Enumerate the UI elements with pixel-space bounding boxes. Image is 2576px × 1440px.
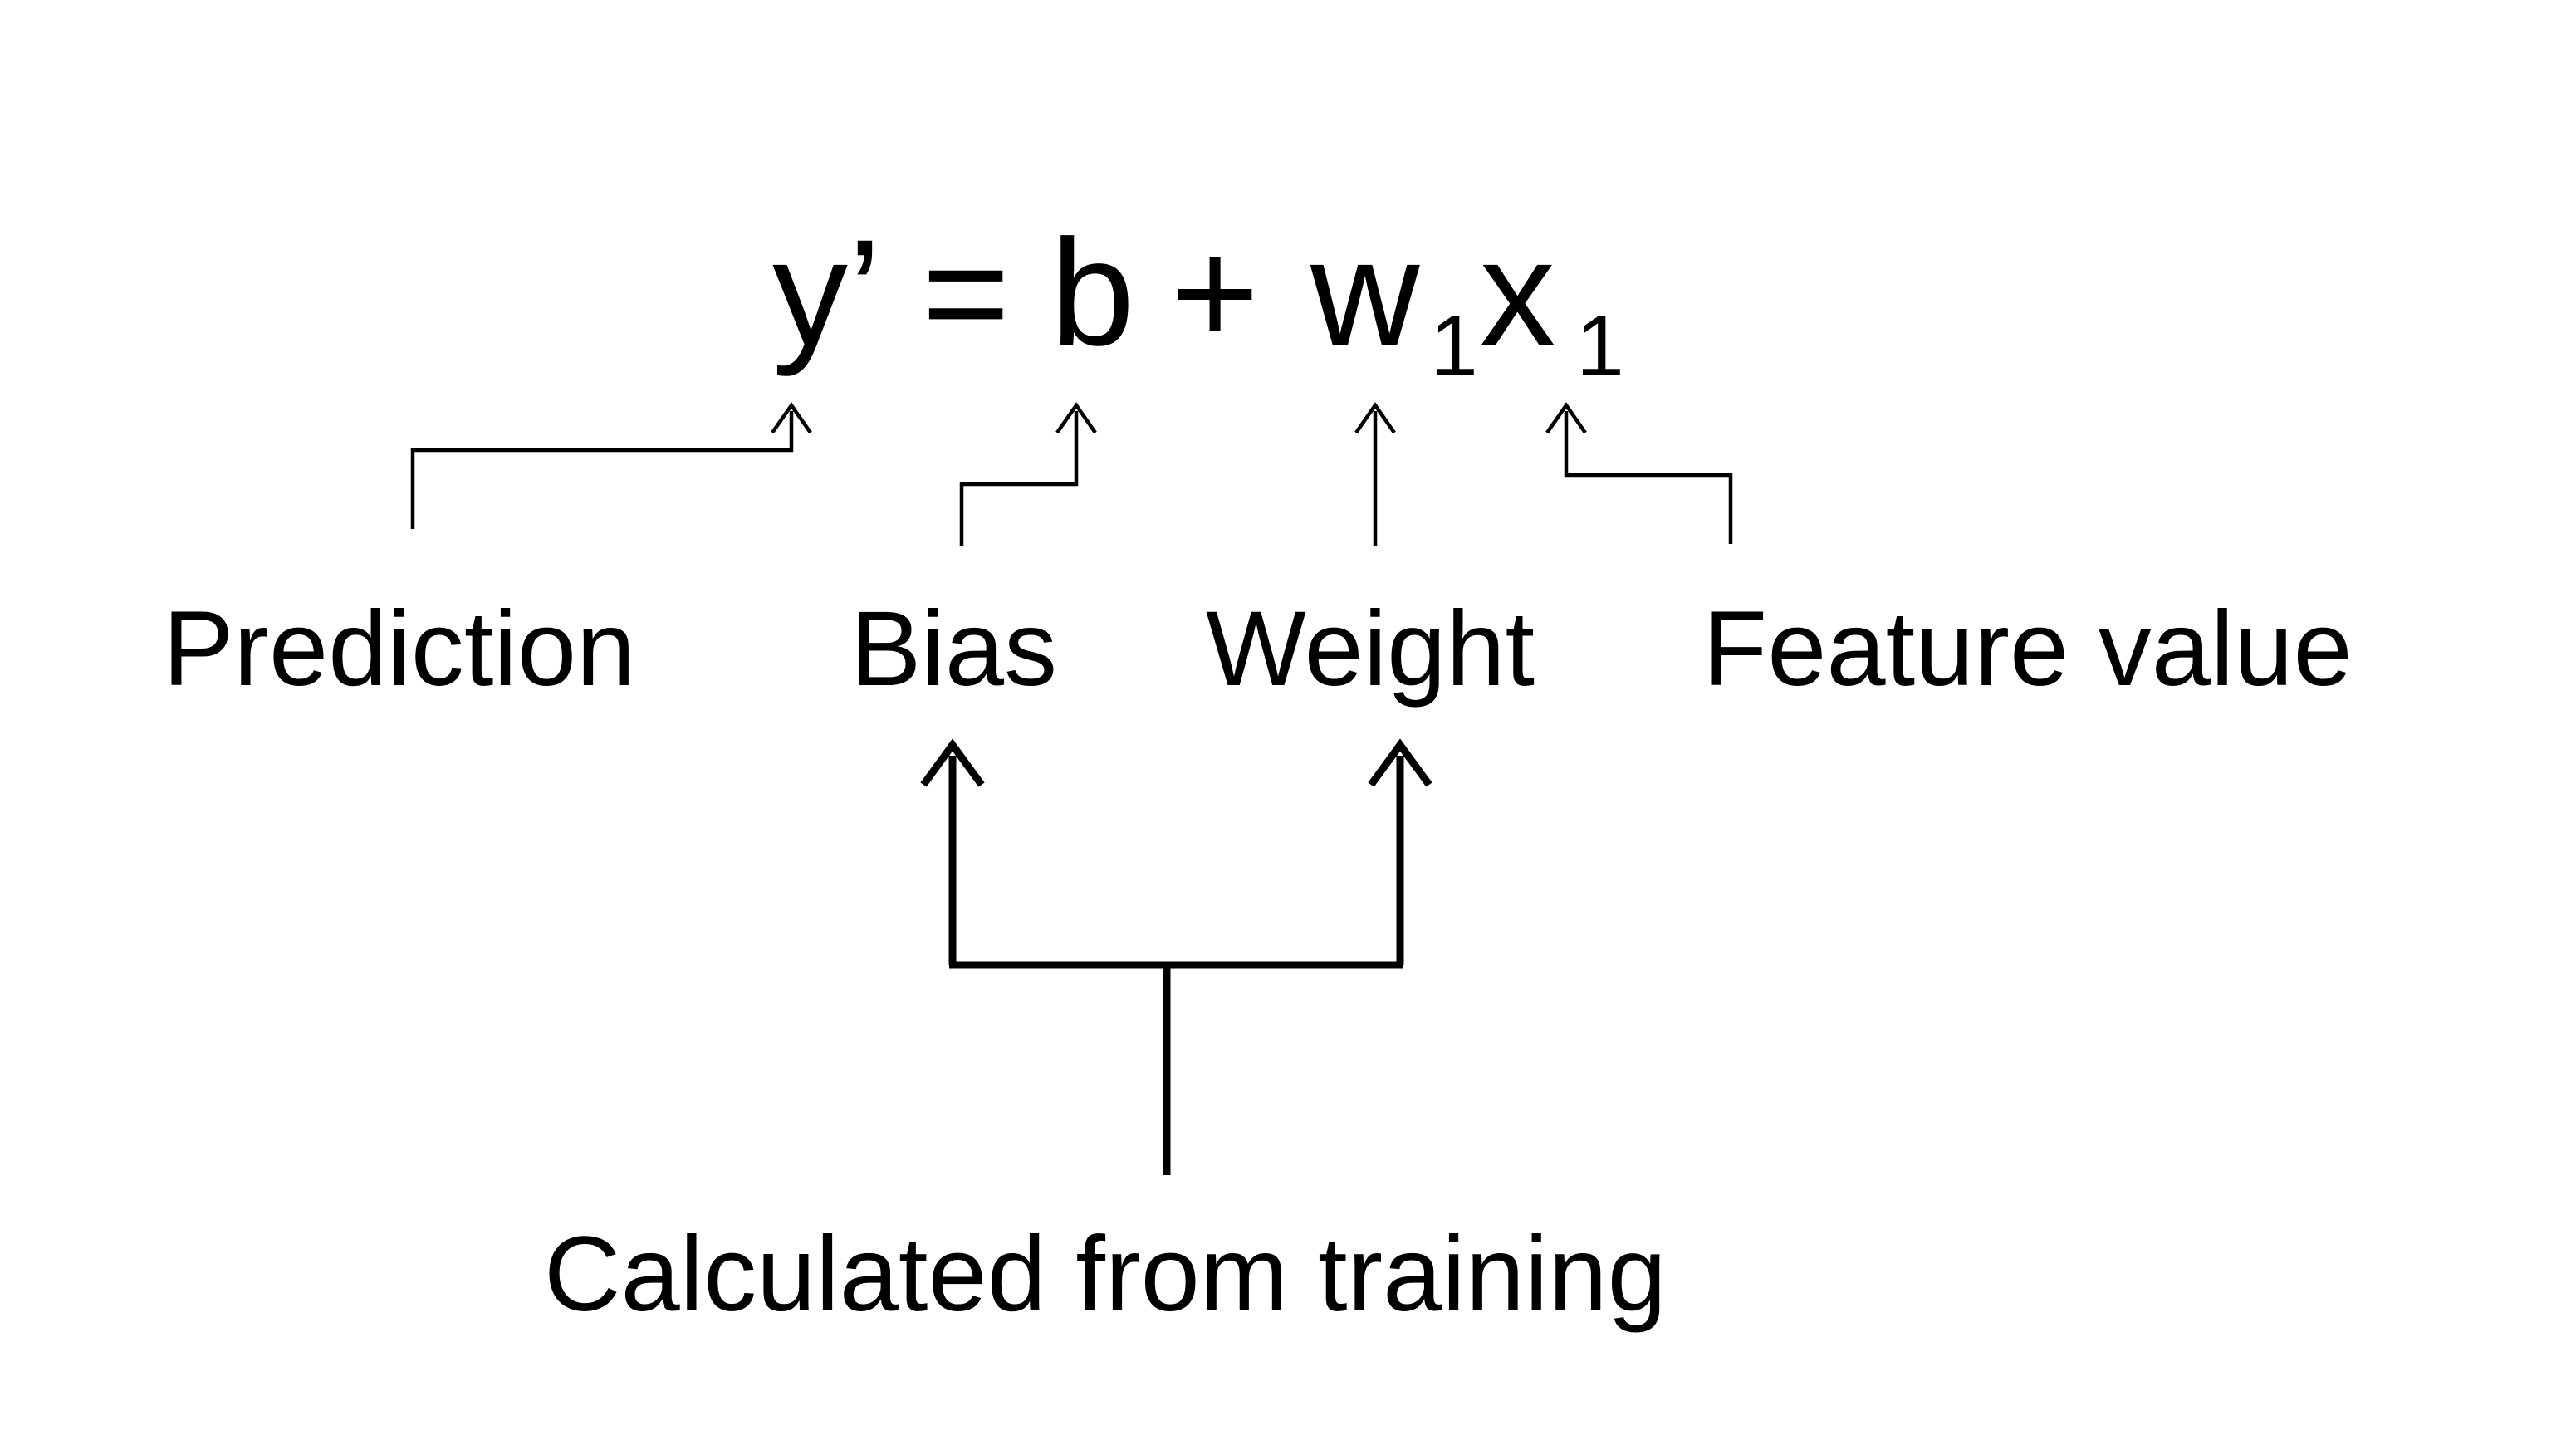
label-weight: Weight xyxy=(1206,590,1535,708)
term-labels-row: Prediction Bias Weight Feature value xyxy=(163,590,2353,708)
label-feature-value: Feature value xyxy=(1702,590,2353,708)
formula-plus: + xyxy=(1171,208,1259,377)
formula-feature-subscript: 1 xyxy=(1576,298,1624,394)
formula-weight-subscript: 1 xyxy=(1430,298,1478,394)
linear-regression-equation-diagram: y’ = b + w 1 x 1 xyxy=(0,0,2576,1440)
label-calculated-from-training: Calculated from training xyxy=(544,1215,1667,1334)
formula-bias-symbol: b xyxy=(1050,208,1134,377)
formula-feature-symbol: x xyxy=(1480,208,1555,377)
formula-equals: = xyxy=(922,208,1010,377)
label-bias: Bias xyxy=(850,590,1057,708)
diagram-root: y’ = b + w 1 x 1 xyxy=(0,0,2576,1440)
formula-y-prime: y’ xyxy=(772,208,881,377)
label-prediction: Prediction xyxy=(163,590,635,708)
formula-weight-symbol: w xyxy=(1310,208,1420,377)
